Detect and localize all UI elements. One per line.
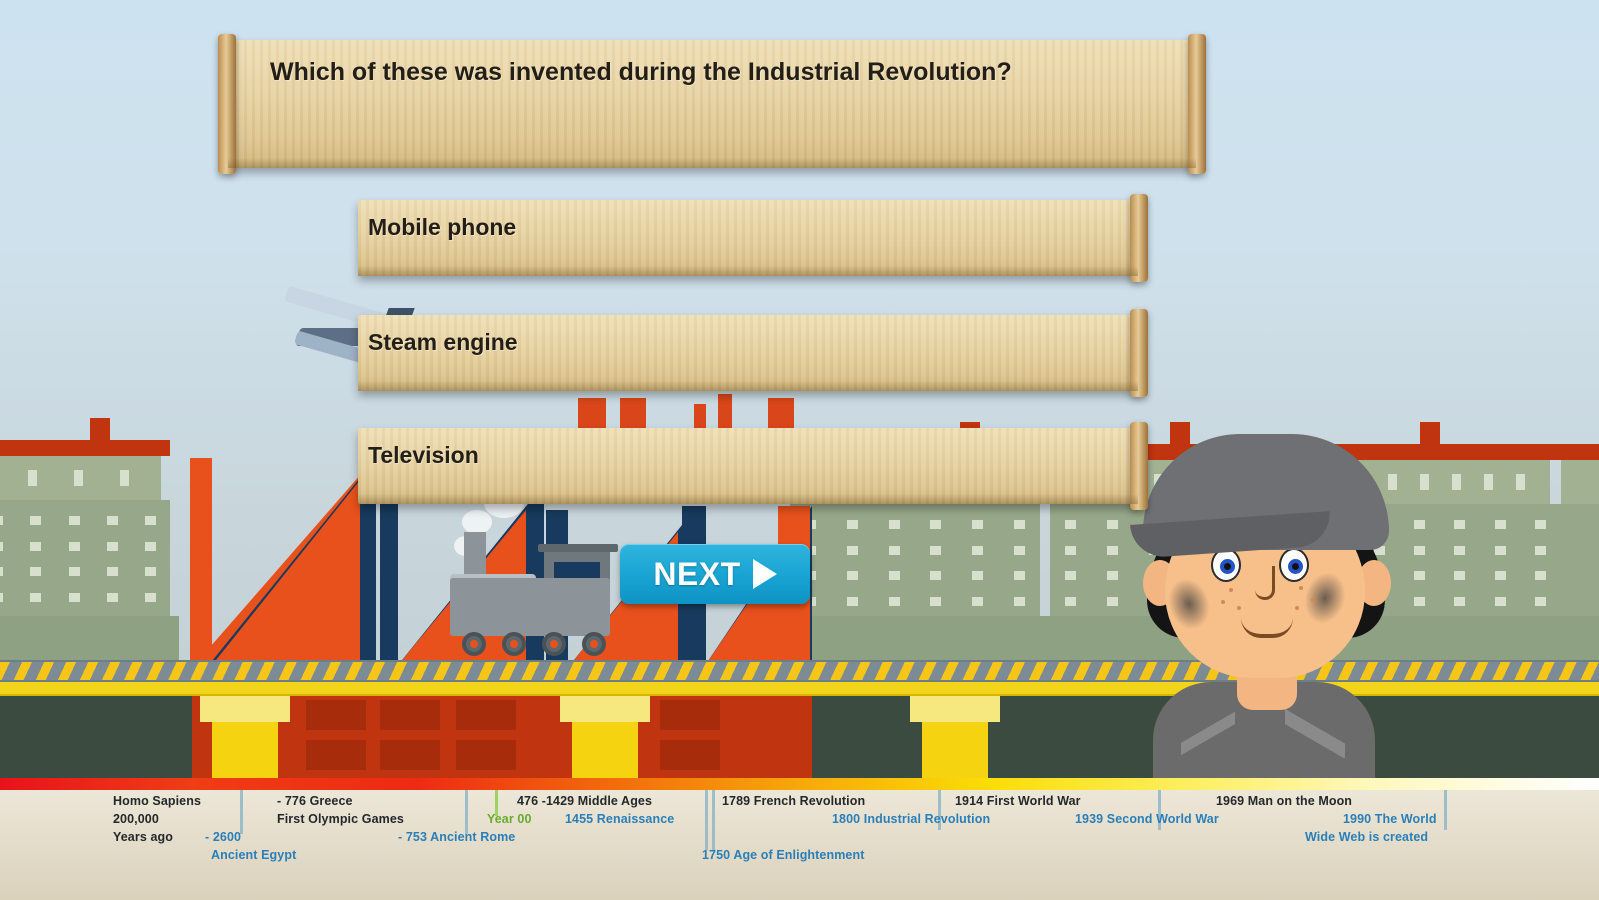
timeline-entry: 1455 Renaissance — [565, 812, 674, 826]
building — [1555, 444, 1599, 670]
next-button[interactable]: NEXT — [620, 544, 810, 604]
timeline-divider — [240, 790, 243, 834]
timeline-entry: - 776 Greece — [277, 794, 353, 808]
timeline-entry: - 753 Ancient Rome — [398, 830, 515, 844]
timeline-entry: 1800 Industrial Revolution — [832, 812, 990, 826]
timeline-entry: First Olympic Games — [277, 812, 404, 826]
timeline-entry: Homo Sapiens — [113, 794, 201, 808]
board-post-left — [218, 34, 236, 174]
timeline-entry: - 2600 — [205, 830, 241, 844]
question-board: Which of these was invented during the I… — [228, 40, 1196, 168]
timeline-entry: 1939 Second World War — [1075, 812, 1219, 826]
timeline-entry: 1789 French Revolution — [722, 794, 865, 808]
steam-locomotive — [440, 508, 620, 658]
timeline-entry: 200,000 — [113, 812, 159, 826]
building — [0, 440, 170, 670]
timeline-entry: Wide Web is created — [1305, 830, 1428, 844]
timeline-divider — [1444, 790, 1447, 830]
timeline-entry: Ancient Egypt — [211, 848, 296, 862]
timeline-entry: 476 -1429 Middle Ages — [517, 794, 652, 808]
question-text: Which of these was invented during the I… — [270, 58, 1012, 87]
factory-window — [456, 700, 516, 730]
support-pillar — [922, 696, 988, 780]
quiz-scene: Which of these was invented during the I… — [0, 0, 1599, 900]
factory-window — [660, 740, 720, 770]
timeline-entry: Year 00 — [487, 812, 532, 826]
timeline-entry: Years ago — [113, 830, 173, 844]
board-post-right — [1188, 34, 1206, 174]
factory-window — [380, 740, 440, 770]
character-nose — [1255, 566, 1275, 600]
factory-window — [380, 700, 440, 730]
answer-option-mobile-phone[interactable]: Mobile phone — [358, 200, 1138, 276]
timeline-divider — [705, 790, 708, 850]
answer-label: Mobile phone — [368, 214, 516, 241]
timeline-divider — [712, 790, 715, 850]
answer-option-television[interactable]: Television — [358, 428, 1138, 504]
factory-window — [306, 740, 366, 770]
answer-label: Steam engine — [368, 329, 518, 356]
support-pillar — [212, 696, 278, 780]
play-triangle-icon — [753, 559, 777, 589]
factory-window — [306, 700, 366, 730]
timeline-entry: 1914 First World War — [955, 794, 1081, 808]
factory-window — [660, 700, 720, 730]
timeline-entry: 1990 The World — [1343, 812, 1437, 826]
timeline-entry: 1750 Age of Enlightenment — [702, 848, 864, 862]
answer-option-steam-engine[interactable]: Steam engine — [358, 315, 1138, 391]
factory-window — [456, 740, 516, 770]
answer-label: Television — [368, 442, 479, 469]
support-pillar — [572, 696, 638, 780]
timeline-entry: 1969 Man on the Moon — [1216, 794, 1352, 808]
timeline-divider — [465, 790, 468, 834]
next-button-label: NEXT — [653, 556, 740, 593]
character-eye — [1279, 548, 1309, 582]
history-timeline: Homo Sapiens200,000Years ago- 2600Ancien… — [0, 790, 1599, 900]
